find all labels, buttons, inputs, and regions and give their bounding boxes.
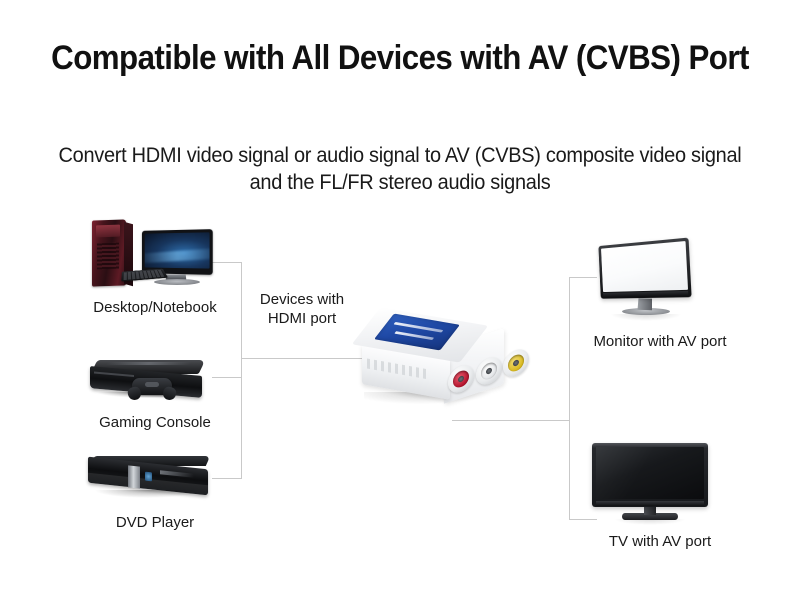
infographic-canvas: Compatible with All Devices with AV (CVB… bbox=[0, 0, 800, 609]
label-dvd-player: DVD Player bbox=[60, 513, 250, 532]
label-desktop-notebook: Desktop/Notebook bbox=[60, 298, 250, 317]
label-tv-with-av-port: TV with AV port bbox=[560, 532, 760, 551]
page-subtitle: Convert HDMI video signal or audio signa… bbox=[58, 142, 742, 196]
rca-video-port bbox=[503, 346, 529, 380]
desktop-computer-icon bbox=[84, 216, 216, 298]
label-gaming-console: Gaming Console bbox=[60, 413, 250, 432]
monitor-icon bbox=[586, 240, 698, 322]
page-title: Compatible with All Devices with AV (CVB… bbox=[32, 38, 768, 79]
hdmi-to-av-converter bbox=[352, 300, 508, 442]
game-console-icon bbox=[88, 352, 216, 408]
connector-left-bus bbox=[241, 262, 242, 479]
label-monitor-with-av-port: Monitor with AV port bbox=[560, 332, 760, 351]
connector-left-to-converter bbox=[241, 358, 366, 359]
connector-right-bus bbox=[569, 277, 570, 520]
dvd-player-icon bbox=[88, 452, 220, 508]
tv-icon bbox=[592, 443, 708, 523]
connector-console-stub bbox=[212, 377, 242, 378]
connector-desktop-stub bbox=[212, 262, 242, 263]
label-devices-with-hdmi-port: Devices with HDMI port bbox=[248, 290, 356, 328]
